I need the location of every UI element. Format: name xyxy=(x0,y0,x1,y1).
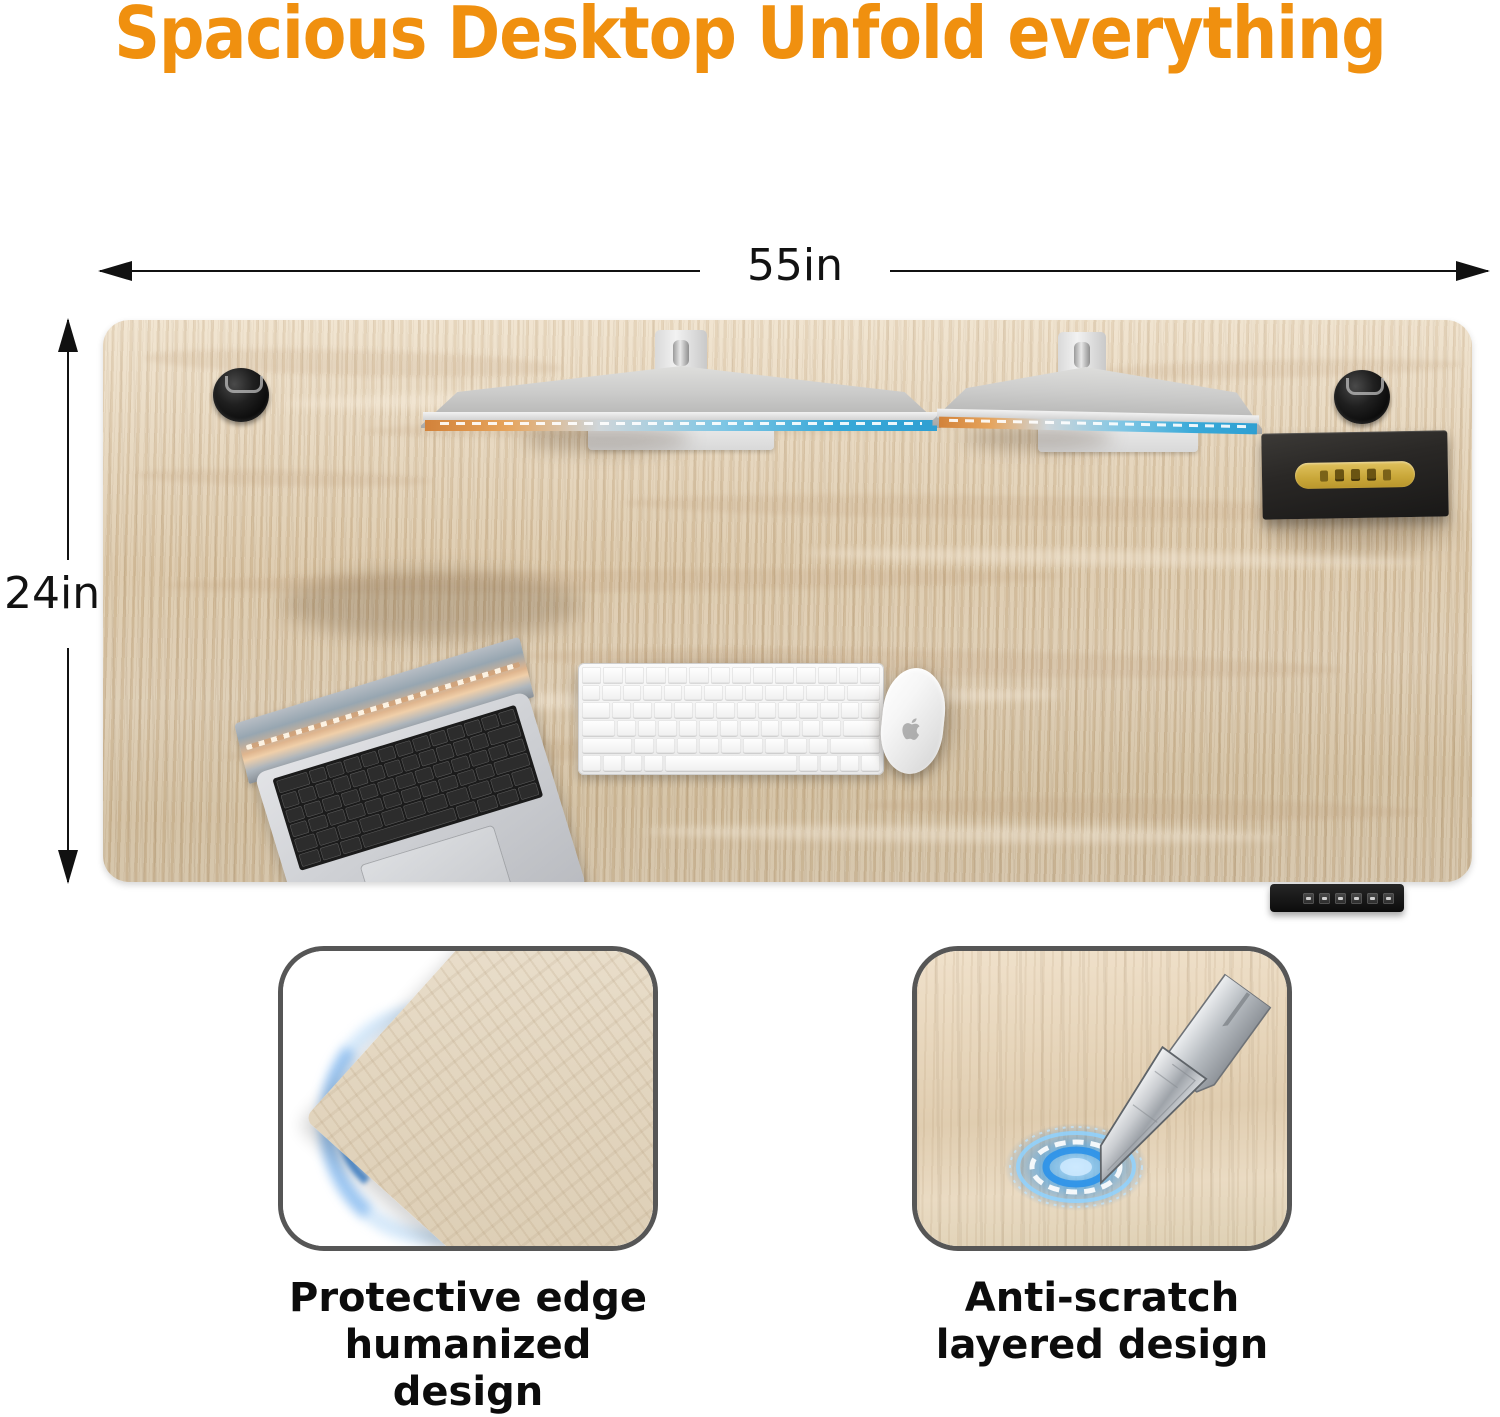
page-title: Spacious Desktop Unfold everything xyxy=(15,0,1485,72)
laptop-shadow xyxy=(283,570,583,640)
keyboard-row-qwerty xyxy=(582,702,880,718)
controller-preset-1-button[interactable] xyxy=(1335,893,1346,904)
magic-keyboard xyxy=(578,663,884,775)
utility-knife-icon xyxy=(1054,957,1279,1216)
usb-port-icon[interactable] xyxy=(1319,470,1327,481)
usb-port-icon[interactable] xyxy=(1382,469,1390,480)
controller-down-button[interactable] xyxy=(1319,893,1330,904)
keyboard-row-number xyxy=(582,685,880,701)
socket-icon[interactable] xyxy=(1334,469,1343,481)
controller-preset-3-button[interactable] xyxy=(1367,893,1378,904)
socket-icon[interactable] xyxy=(1366,469,1375,481)
laptop xyxy=(254,691,587,882)
feature-card-protective-edge: Protective edge humanized design xyxy=(278,946,658,1417)
keyboard-row-space xyxy=(582,755,880,771)
protective-edge-caption: Protective edge humanized design xyxy=(278,1275,658,1417)
anti-scratch-image-frame xyxy=(912,946,1292,1251)
caption-line-1: Protective edge xyxy=(278,1275,658,1322)
monitor-left-vesa-knob xyxy=(673,340,689,366)
controller-up-button[interactable] xyxy=(1303,893,1314,904)
socket-icon[interactable] xyxy=(1350,469,1359,481)
power-strip-outlet-panel[interactable] xyxy=(1295,461,1415,489)
cable-grommet-left-icon xyxy=(213,368,269,422)
monitor-left xyxy=(421,330,941,442)
caption-line-2: humanized design xyxy=(278,1322,658,1416)
cable-grommet-right-icon xyxy=(1334,370,1390,424)
caption-line-2: layered design xyxy=(912,1322,1292,1369)
feature-card-anti-scratch: Anti-scratch layered design xyxy=(912,946,1292,1369)
apple-logo-icon xyxy=(900,715,925,743)
monitor-right xyxy=(933,332,1263,444)
power-strip xyxy=(1261,430,1448,519)
product-feature-graphic: Spacious Desktop Unfold everything 55in … xyxy=(0,0,1500,1382)
feature-cards: Protective edge humanized design xyxy=(0,946,1500,1382)
depth-dimension-label: 24in xyxy=(0,568,112,619)
keyboard-row-function xyxy=(582,667,880,683)
anti-scratch-illustration xyxy=(917,951,1287,1246)
controller-preset-m-button[interactable] xyxy=(1383,893,1394,904)
caption-line-1: Anti-scratch xyxy=(912,1275,1292,1322)
keyboard-row-home xyxy=(582,720,880,736)
desktop-surface xyxy=(103,320,1472,882)
monitor-left-screen-edge xyxy=(425,420,937,431)
controller-preset-2-button[interactable] xyxy=(1351,893,1362,904)
height-controller[interactable] xyxy=(1270,884,1404,912)
monitor-right-vesa-knob xyxy=(1074,342,1090,368)
anti-scratch-caption: Anti-scratch layered design xyxy=(912,1275,1292,1369)
width-dimension-label: 55in xyxy=(700,240,890,291)
protective-edge-image-frame xyxy=(278,946,658,1251)
protective-edge-illustration xyxy=(283,951,653,1246)
keyboard-row-shift xyxy=(582,738,880,754)
